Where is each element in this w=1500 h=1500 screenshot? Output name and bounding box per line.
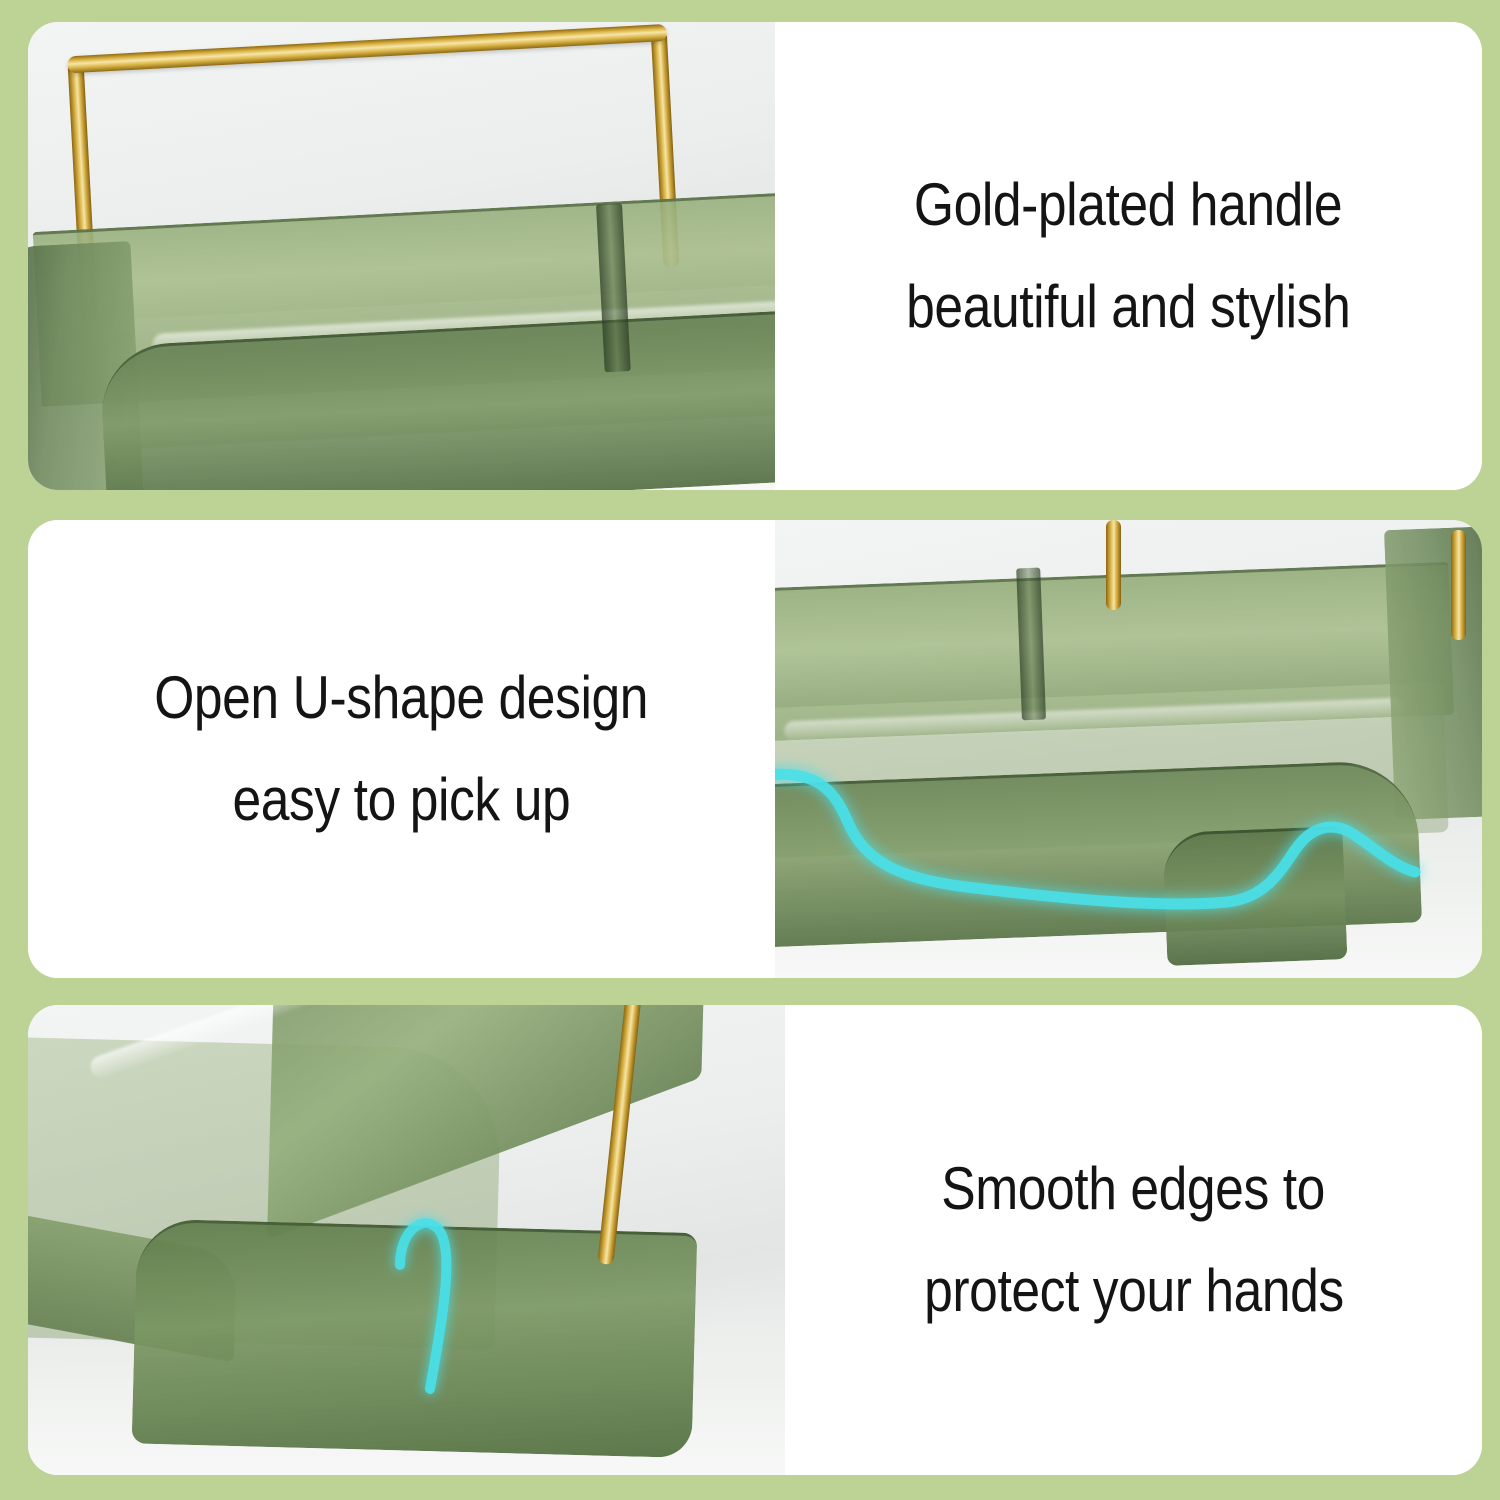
caption-line-1: Open U-shape design bbox=[155, 668, 649, 728]
caption-block-u-shape: Open U-shape design easy to pick up bbox=[28, 520, 775, 978]
caption-line-2: protect your hands bbox=[924, 1261, 1344, 1321]
caption-line-2: easy to pick up bbox=[233, 770, 571, 830]
cyan-u-curve-icon bbox=[775, 520, 1482, 978]
cyan-hook-arc-icon bbox=[28, 1005, 785, 1475]
feature-panel-smooth-edges: Smooth edges to protect your hands bbox=[28, 1005, 1482, 1475]
product-photo-smooth-edges bbox=[28, 1005, 785, 1475]
caption-line-1: Gold-plated handle bbox=[914, 175, 1342, 235]
product-photo-u-shape bbox=[775, 520, 1482, 978]
product-infographic: Gold-plated handle beautiful and stylish… bbox=[0, 0, 1500, 1500]
product-photo-gold-handle bbox=[28, 22, 775, 490]
caption-block-smooth-edges: Smooth edges to protect your hands bbox=[785, 1005, 1482, 1475]
caption-line-1: Smooth edges to bbox=[942, 1159, 1326, 1219]
tray-body bbox=[28, 190, 775, 490]
caption-block-gold-handle: Gold-plated handle beautiful and stylish bbox=[775, 22, 1482, 490]
feature-panel-u-shape: Open U-shape design easy to pick up bbox=[28, 520, 1482, 978]
caption-line-2: beautiful and stylish bbox=[906, 277, 1350, 337]
feature-panel-gold-handle: Gold-plated handle beautiful and stylish bbox=[28, 22, 1482, 490]
